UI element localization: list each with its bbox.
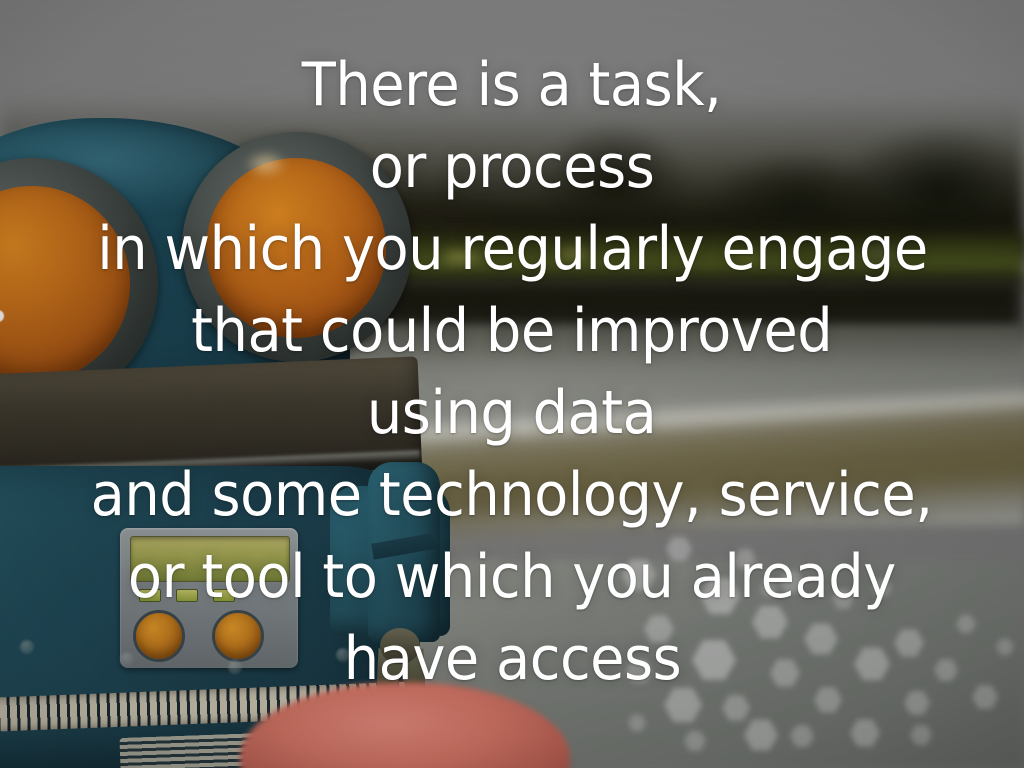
bokeh-hexagon bbox=[972, 684, 998, 710]
bokeh-hexagon bbox=[744, 718, 778, 752]
bokeh-hexagon bbox=[956, 614, 976, 634]
robot-chest-button-2 bbox=[212, 610, 264, 662]
bokeh-hexagon bbox=[692, 638, 736, 682]
bokeh-hexagon bbox=[684, 730, 706, 752]
bokeh-hexagon bbox=[722, 694, 750, 722]
bokeh-hexagon bbox=[872, 578, 892, 598]
robot-indicator-led-3 bbox=[213, 589, 235, 602]
robot-claw-hub bbox=[380, 628, 420, 664]
bokeh-hexagon bbox=[996, 638, 1014, 656]
bokeh-highlights bbox=[604, 518, 1024, 768]
bokeh-hexagon bbox=[814, 686, 842, 714]
toy-robot bbox=[0, 0, 440, 768]
bokeh-hexagon bbox=[666, 536, 692, 562]
bokeh-hexagon bbox=[832, 588, 854, 610]
bokeh-hexagon bbox=[752, 604, 788, 640]
robot-right-eye-lens bbox=[206, 158, 386, 338]
robot-panel-screen bbox=[130, 536, 290, 582]
bokeh-hexagon bbox=[790, 724, 814, 748]
robot-indicator-led-1 bbox=[139, 589, 161, 602]
bokeh-hexagon bbox=[700, 576, 740, 616]
bokeh-hexagon bbox=[644, 614, 674, 644]
quote-slide: There is a task, or process in which you… bbox=[0, 0, 1024, 768]
bokeh-hexagon bbox=[779, 570, 803, 594]
bokeh-hexagon bbox=[910, 724, 932, 746]
bokeh-hexagon bbox=[664, 686, 702, 724]
robot-rivet bbox=[20, 640, 34, 654]
bokeh-hexagon bbox=[894, 628, 924, 658]
robot-left-eye-lens bbox=[0, 186, 130, 382]
robot-rivet bbox=[336, 648, 350, 662]
robot-indicator-led-2 bbox=[176, 589, 198, 602]
robot-right-eye-socket bbox=[182, 132, 412, 362]
robot-rivet bbox=[120, 652, 134, 666]
bokeh-hexagon bbox=[628, 714, 646, 732]
bokeh-hexagon bbox=[622, 558, 656, 592]
bokeh-hexagon bbox=[760, 580, 778, 598]
bokeh-hexagon bbox=[626, 658, 652, 684]
bokeh-hexagon bbox=[804, 622, 838, 656]
bokeh-hexagon bbox=[850, 718, 880, 748]
bokeh-hexagon bbox=[934, 658, 958, 682]
bokeh-hexagon bbox=[904, 690, 930, 716]
bokeh-hexagon bbox=[854, 646, 890, 682]
robot-chest-button-1 bbox=[133, 610, 185, 662]
bokeh-hexagon bbox=[770, 658, 800, 688]
robot-rivet bbox=[228, 660, 242, 674]
robot-right-eye-glint bbox=[244, 150, 288, 178]
bokeh-hexagon bbox=[734, 548, 756, 570]
